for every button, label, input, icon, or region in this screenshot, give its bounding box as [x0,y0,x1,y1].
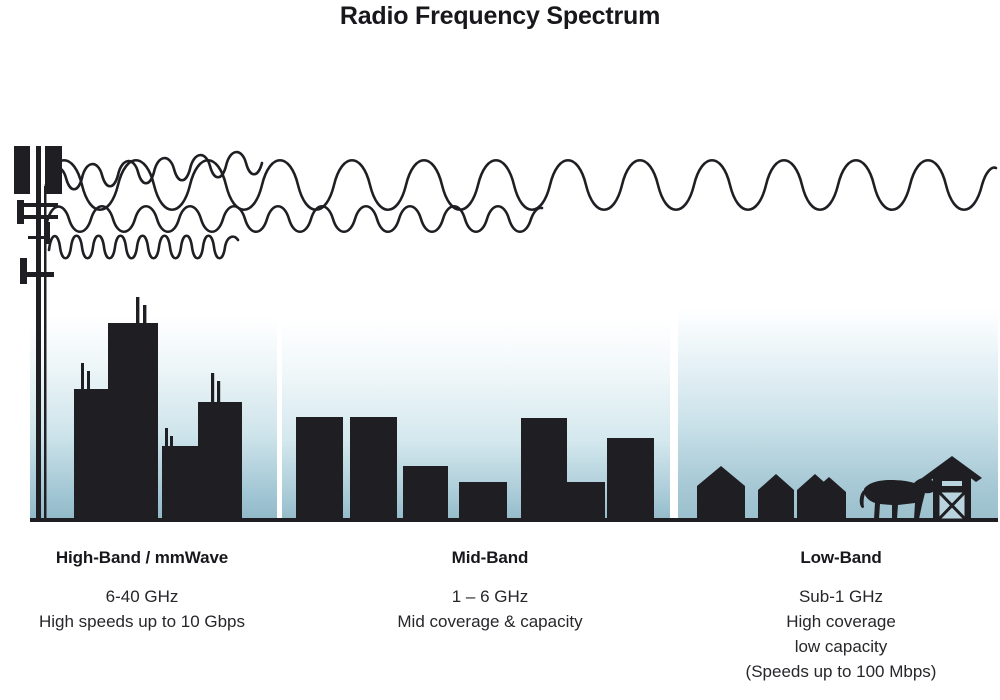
antenna-small-3 [20,258,27,284]
band-desc-high-line-1: 6-40 GHz [0,585,284,610]
band-desc-low-line-3: low capacity [684,635,998,660]
band-desc-low-line-2: High coverage [684,610,998,635]
antenna-small-2 [44,222,50,244]
antenna-panel-left [14,146,30,194]
band-desc-low: Sub-1 GHz High coverage low capacity (Sp… [684,585,998,685]
band-title-mid: Mid-Band [330,548,650,568]
wave-long [46,152,262,189]
band-desc-high: 6-40 GHz High speeds up to 10 Gbps [0,585,284,635]
band-desc-mid-line-1: 1 – 6 GHz [330,585,650,610]
band-caption-low: Low-Band Sub-1 GHz High coverage low cap… [684,548,998,685]
band-backdrop-low [678,308,998,520]
band-caption-high: High-Band / mmWave 6-40 GHz High speeds … [0,548,284,635]
antenna-small-1 [17,200,24,224]
band-backdrop-mid [282,320,670,520]
band-desc-low-line-4: (Speeds up to 100 Mbps) [684,660,998,685]
wave-medium [47,206,542,232]
page-title: Radio Frequency Spectrum [0,2,1000,31]
band-desc-low-line-1: Sub-1 GHz [684,585,998,610]
band-desc-high-line-2: High speeds up to 10 Gbps [0,610,284,635]
band-desc-mid-line-2: Mid coverage & capacity [330,610,650,635]
infographic-canvas: Radio Frequency Spectrum [0,0,1000,700]
ground-line [30,518,998,522]
band-backdrop-high [30,316,277,520]
band-title-low: Low-Band [684,548,998,568]
antenna-panel-right [45,146,62,194]
band-title-high: High-Band / mmWave [0,548,284,568]
wave-short [49,236,238,259]
band-caption-mid: Mid-Band 1 – 6 GHz Mid coverage & capaci… [330,548,650,635]
band-desc-mid: 1 – 6 GHz Mid coverage & capacity [330,585,650,635]
